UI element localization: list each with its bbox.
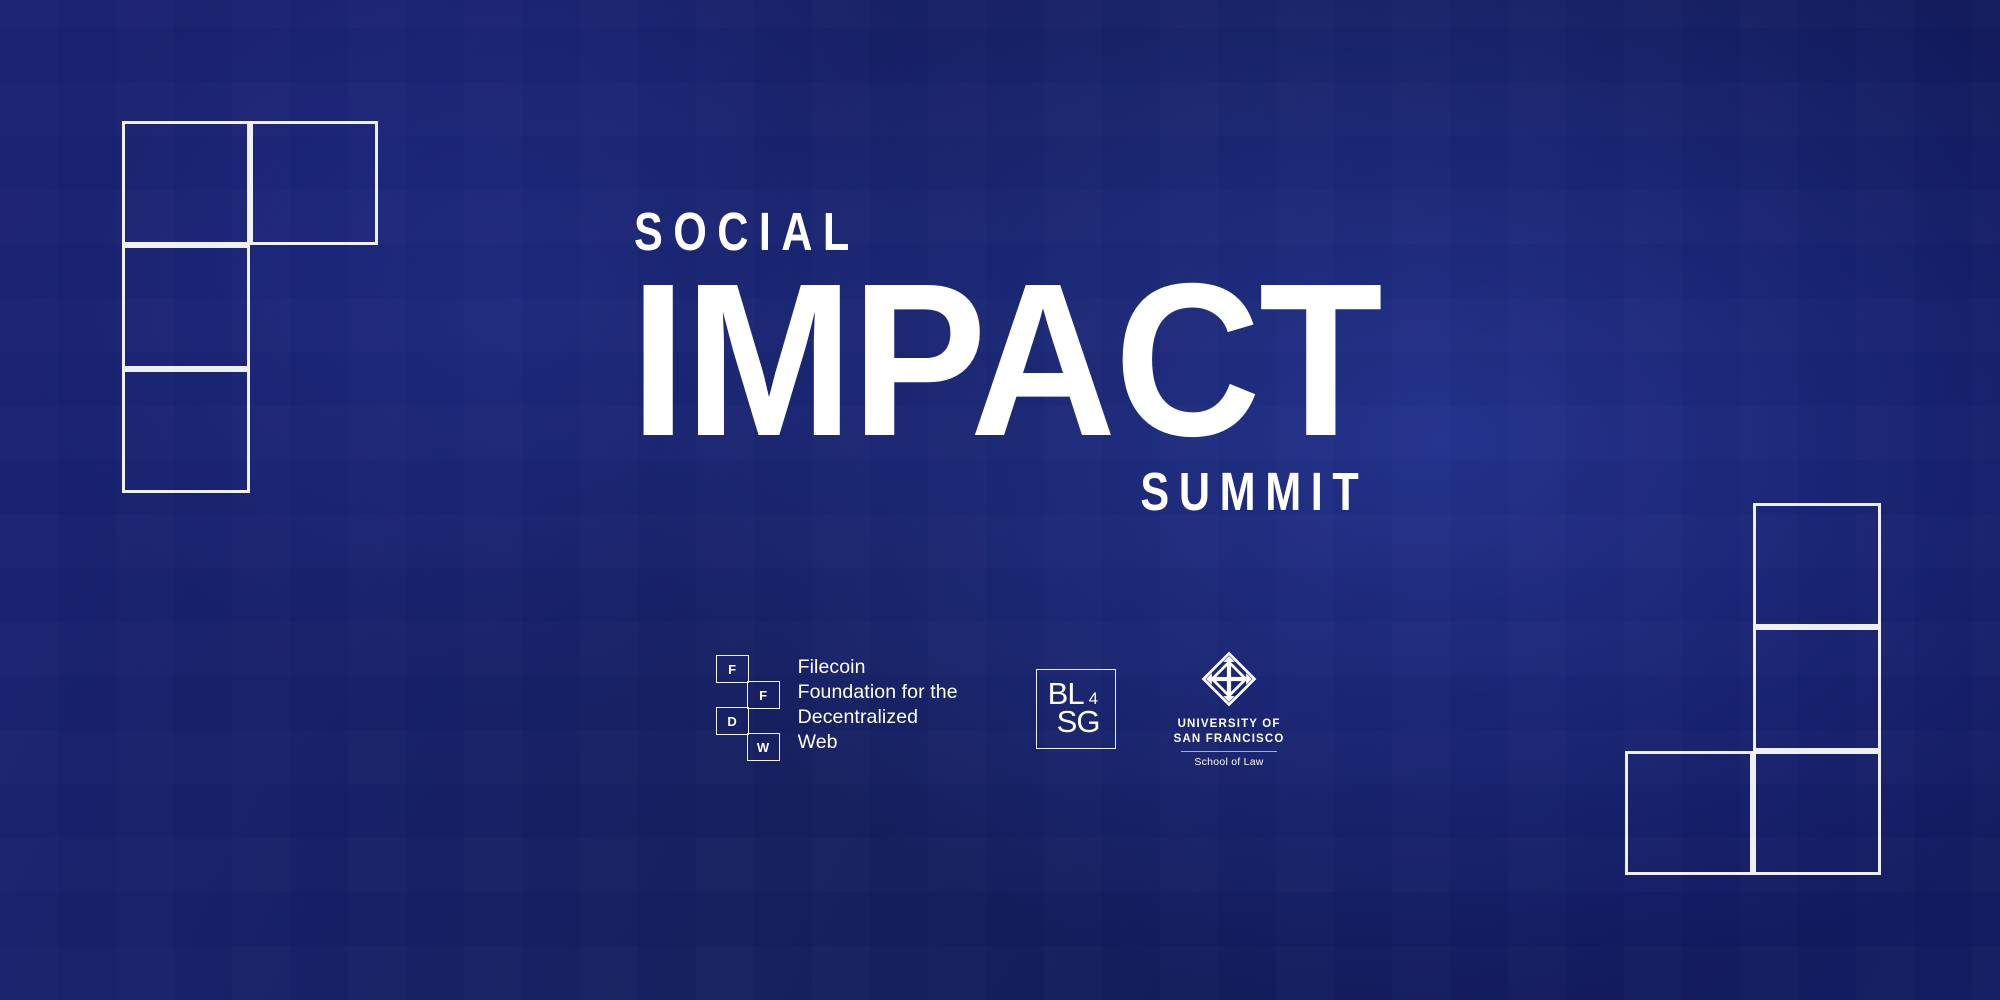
ffdw-name-line-1: Filecoin — [798, 655, 958, 680]
usf-school-of-law-logo: UNIVERSITY OF SAN FRANCISCO School of La… — [1174, 650, 1285, 768]
title-line-impact: IMPACT — [630, 265, 1318, 457]
title-block: SOCIAL IMPACT SUMMIT — [630, 205, 1370, 519]
event-title-lockup: SOCIAL IMPACT SUMMIT — [0, 205, 2000, 519]
ffdw-mark-icon: F F D W — [716, 655, 782, 763]
ffdw-name-line-2: Foundation for the — [798, 680, 958, 705]
ffdw-name-line-3: Decentralized — [798, 705, 958, 730]
ffdw-box-w: W — [747, 733, 780, 761]
tetromino-cell — [1753, 751, 1881, 875]
usf-name-line-2: SAN FRANCISCO — [1174, 732, 1285, 747]
blsg-logo: BL 4 SG — [1036, 669, 1116, 749]
ffdw-wordmark: Filecoin Foundation for the Decentralize… — [798, 655, 958, 755]
sponsor-logo-row: F F D W Filecoin Foundation for the Dece… — [0, 650, 2000, 768]
usf-divider — [1181, 751, 1277, 752]
blsg-frame-icon: BL 4 SG — [1036, 669, 1116, 749]
poster-canvas: SOCIAL IMPACT SUMMIT F F D W Filecoin Fo… — [0, 0, 2000, 1000]
filecoin-foundation-logo: F F D W Filecoin Foundation for the Dece… — [716, 655, 958, 763]
usf-diamond-crest-icon — [1200, 650, 1258, 708]
ffdw-name-line-4: Web — [798, 730, 958, 755]
ffdw-box-f1: F — [716, 655, 749, 683]
blsg-letters-sg: SG — [1057, 706, 1100, 737]
tetromino-cell — [1753, 503, 1881, 627]
usf-name-line-1: UNIVERSITY OF — [1174, 717, 1285, 732]
usf-subtitle: School of Law — [1194, 756, 1263, 768]
ffdw-box-f2: F — [747, 681, 780, 709]
title-line-summit: SUMMIT — [778, 465, 1370, 519]
usf-wordmark: UNIVERSITY OF SAN FRANCISCO — [1174, 717, 1285, 746]
ffdw-box-d: D — [716, 707, 749, 735]
tetromino-cell — [1625, 751, 1753, 875]
